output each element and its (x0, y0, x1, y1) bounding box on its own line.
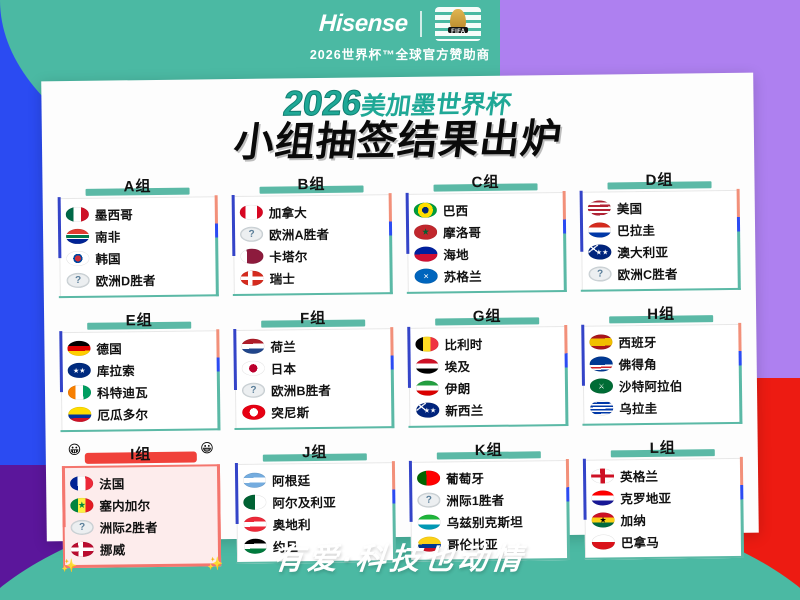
group-title: L组 (650, 439, 676, 456)
team-name: 洲际1胜者 (446, 490, 504, 510)
flag-icon-ecuador (68, 407, 91, 422)
flag-icon-ghana: ★ (592, 513, 615, 528)
group-team-list: 墨西哥南非韩国?欧洲D胜者 (59, 196, 218, 298)
team-row[interactable]: 美国 (588, 196, 732, 220)
team-name: 科特迪瓦 (97, 382, 148, 402)
team-row[interactable]: 南非 (66, 224, 210, 248)
team-name: 比利时 (444, 334, 482, 353)
team-row[interactable]: ★加纳 (591, 508, 735, 532)
team-row[interactable]: ?欧洲B胜者 (242, 378, 386, 402)
card-bottom-border (235, 426, 394, 430)
group-team-list: 美国巴拉圭★★澳大利亚?欧洲C胜者 (581, 190, 740, 292)
face-right-icon: 😀 (200, 440, 214, 456)
group-team-list: 加拿大?欧洲A胜者卡塔尔瑞士 (233, 194, 392, 296)
fifa-trophy-icon: FIFA (435, 7, 481, 41)
team-row[interactable]: ★★库拉索 (68, 358, 212, 382)
team-row[interactable]: 乌兹别克斯坦 (418, 510, 562, 534)
team-row[interactable]: 法国 (70, 471, 212, 495)
team-name: 加纳 (621, 510, 647, 529)
team-row[interactable]: 巴拉圭 (588, 218, 732, 242)
flag-icon-curacao: ★★ (68, 363, 91, 378)
group-card-F组[interactable]: F组荷兰日本?欧洲B胜者突尼斯 (234, 306, 393, 430)
team-row[interactable]: 佛得角 (590, 352, 734, 376)
brand-row: Hisense FIFA (0, 8, 800, 40)
team-name: 欧洲A胜者 (269, 224, 329, 244)
team-row[interactable]: 韩国 (66, 246, 210, 270)
flag-icon-algeria (243, 495, 266, 510)
footer-slogan: 有爱·科技也动情 (272, 534, 529, 578)
flag-icon-uzbekistan (418, 515, 441, 530)
team-name: 海地 (443, 244, 469, 263)
group-team-list: 西班牙佛得角⚔沙特阿拉伯乌拉圭 (582, 324, 741, 426)
team-name: 塞内加尔 (99, 495, 150, 515)
team-name: 欧洲D胜者 (96, 270, 156, 290)
team-row[interactable]: 厄瓜多尔 (68, 402, 212, 426)
team-name: 加拿大 (269, 202, 307, 221)
flag-icon-mexico (66, 207, 89, 222)
group-title-wrap: C组 (406, 170, 564, 194)
flag-icon-unknown: ? (417, 493, 440, 508)
team-row[interactable]: ★★新西兰 (416, 398, 560, 422)
team-row[interactable]: ?欧洲A胜者 (240, 222, 384, 246)
group-team-list: 比利时埃及伊朗★★新西兰 (408, 326, 567, 428)
team-name: 奥地利 (273, 514, 311, 533)
group-title-wrap: H组 (582, 302, 740, 326)
team-name: 克罗地亚 (620, 488, 671, 508)
hisense-logo: Hisense (318, 10, 408, 38)
flag-icon-south-africa (66, 229, 89, 244)
card-bottom-border (59, 294, 218, 298)
team-name: 瑞士 (270, 269, 296, 288)
flag-icon-japan (242, 361, 265, 376)
poster-content: 2026美加墨世界杯 小组抽签结果出炉 A组墨西哥南非韩国?欧洲D胜者B组加拿大… (41, 73, 759, 542)
group-title: A组 (123, 178, 151, 195)
team-name: 新西兰 (445, 400, 483, 419)
team-name: 墨西哥 (95, 205, 133, 224)
group-title: I组 (130, 446, 151, 463)
flag-icon-morocco: ★ (414, 225, 437, 240)
team-name: 欧洲B胜者 (271, 380, 331, 400)
title-year: 2026 (281, 83, 364, 123)
team-row[interactable]: 巴西 (414, 198, 558, 222)
flag-icon-haiti (414, 247, 437, 262)
team-name: 伊朗 (445, 378, 471, 397)
team-row[interactable]: ★摩洛哥 (414, 220, 558, 244)
team-row[interactable]: 海地 (414, 242, 558, 266)
flag-icon-paraguay (588, 223, 611, 238)
flag-icon-unknown: ? (589, 267, 612, 282)
team-name: 卡塔尔 (269, 246, 307, 265)
flag-icon-brazil (414, 203, 437, 218)
group-title-wrap: G组 (408, 304, 566, 328)
team-row[interactable]: 科特迪瓦 (68, 380, 212, 404)
group-team-list: 巴西★摩洛哥海地✕苏格兰 (407, 192, 566, 294)
flag-icon-iran (416, 381, 439, 396)
team-name: 苏格兰 (444, 266, 482, 285)
face-left-icon: 😀 (68, 442, 82, 458)
team-row[interactable]: 加拿大 (240, 200, 384, 224)
team-name: 葡萄牙 (446, 468, 484, 487)
team-name: 厄瓜多尔 (97, 404, 148, 424)
team-name: 沙特阿拉伯 (619, 376, 683, 396)
group-card-G组[interactable]: G组比利时埃及伊朗★★新西兰 (408, 304, 567, 428)
group-title-wrap: A组 (58, 174, 216, 198)
flag-icon-germany (67, 341, 90, 356)
team-row[interactable]: ?洲际1胜者 (417, 488, 561, 512)
team-name: 英格兰 (620, 466, 658, 485)
flag-icon-ivory-coast (68, 385, 91, 400)
team-row[interactable]: 突尼斯 (242, 400, 386, 424)
flag-icon-new-zealand: ★★ (416, 403, 439, 418)
flag-icon-croatia (591, 491, 614, 506)
team-row[interactable]: 荷兰 (241, 334, 385, 358)
group-title: E组 (126, 312, 153, 329)
flag-icon-argentina (243, 473, 266, 488)
group-card-A组[interactable]: A组墨西哥南非韩国?欧洲D胜者 (58, 174, 217, 298)
team-row[interactable]: 乌拉圭 (590, 396, 734, 420)
card-bottom-border (407, 290, 566, 294)
team-row[interactable]: ★塞内加尔 (70, 493, 212, 517)
team-row[interactable]: ✕苏格兰 (414, 264, 558, 288)
team-name: 德国 (96, 339, 122, 358)
team-name: 西班牙 (618, 332, 656, 351)
title-block: 2026美加墨世界杯 小组抽签结果出炉 (41, 73, 754, 166)
group-title-wrap: K组 (410, 438, 568, 462)
team-row[interactable]: 奥地利 (244, 512, 388, 536)
team-name: 乌拉圭 (619, 398, 657, 417)
header: Hisense FIFA 2026世界杯™全球官方赞助商 (0, 8, 800, 63)
flag-icon-france (70, 476, 93, 491)
flag-icon-canada (240, 205, 263, 220)
group-title: B组 (297, 176, 325, 193)
group-title: D组 (645, 171, 673, 188)
flag-icon-uruguay (590, 401, 613, 416)
group-title: F组 (300, 310, 326, 327)
team-row[interactable]: 葡萄牙 (417, 466, 561, 490)
team-name: 库拉索 (97, 360, 135, 379)
flag-icon-australia: ★★ (588, 245, 611, 260)
flag-icon-egypt (416, 359, 439, 374)
flag-icon-senegal: ★ (70, 498, 93, 513)
flag-icon-england (591, 469, 614, 484)
flag-icon-spain (589, 335, 612, 350)
team-row[interactable]: ★★澳大利亚 (588, 240, 732, 264)
team-row[interactable]: 卡塔尔 (240, 244, 384, 268)
flag-icon-unknown: ? (71, 520, 94, 535)
group-title-wrap: B组 (232, 172, 390, 196)
team-name: 美国 (617, 198, 643, 217)
group-title: K组 (475, 442, 503, 459)
card-bottom-border (409, 424, 568, 428)
flag-icon-saudi-arabia: ⚔ (590, 379, 613, 394)
team-row[interactable]: ?欧洲C胜者 (588, 262, 732, 286)
group-card-C组[interactable]: C组巴西★摩洛哥海地✕苏格兰 (406, 170, 565, 294)
flag-icon-unknown: ? (67, 273, 90, 288)
group-card-H组[interactable]: H组西班牙佛得角⚔沙特阿拉伯乌拉圭 (582, 302, 741, 426)
flag-icon-netherlands (241, 339, 264, 354)
team-row[interactable]: 伊朗 (416, 376, 560, 400)
group-card-E组[interactable]: E组德国★★库拉索科特迪瓦厄瓜多尔 (60, 308, 219, 432)
team-row[interactable]: 墨西哥 (66, 202, 210, 226)
flag-icon-unknown: ? (240, 227, 263, 242)
team-row[interactable]: ?欧洲D胜者 (67, 268, 211, 292)
flag-icon-cape-verde (590, 357, 613, 372)
flag-icon-tunisia (242, 405, 265, 420)
group-title: J组 (302, 444, 328, 461)
group-card-D组[interactable]: D组美国巴拉圭★★澳大利亚?欧洲C胜者 (580, 168, 739, 292)
card-bottom-border (581, 288, 740, 292)
team-row[interactable]: 克罗地亚 (591, 486, 735, 510)
team-name: 韩国 (95, 249, 121, 268)
group-title-wrap: J组 (236, 440, 394, 464)
team-row[interactable]: 英格兰 (591, 464, 735, 488)
team-name: 突尼斯 (271, 402, 309, 421)
team-name: 澳大利亚 (617, 242, 668, 262)
group-title: G组 (473, 308, 502, 325)
team-name: 阿根廷 (272, 470, 310, 489)
team-name: 阿尔及利亚 (272, 492, 336, 512)
team-name: 南非 (95, 227, 121, 246)
flag-icon-belgium (415, 337, 438, 352)
group-team-list: 荷兰日本?欧洲B胜者突尼斯 (234, 328, 393, 430)
group-title: C组 (471, 174, 499, 191)
title-year-suffix: 美加墨世界杯 (359, 91, 513, 121)
group-card-B组[interactable]: B组加拿大?欧洲A胜者卡塔尔瑞士 (232, 172, 391, 296)
card-bottom-border (61, 428, 220, 432)
vertical-divider-icon (420, 11, 422, 37)
team-name: 巴西 (443, 200, 469, 219)
team-row[interactable]: 瑞士 (241, 266, 385, 290)
flag-icon-scotland: ✕ (415, 269, 438, 284)
group-title-wrap: E组 (60, 308, 218, 332)
team-name: 摩洛哥 (443, 222, 481, 241)
team-name: 法国 (99, 474, 125, 493)
team-row[interactable]: 德国 (67, 336, 211, 360)
team-row[interactable]: 比利时 (415, 332, 559, 356)
team-name: 日本 (271, 359, 297, 378)
group-grid: A组墨西哥南非韩国?欧洲D胜者B组加拿大?欧洲A胜者卡塔尔瑞士C组巴西★摩洛哥海… (58, 168, 743, 568)
team-name: 巴拉圭 (617, 220, 655, 239)
team-row[interactable]: 阿尔及利亚 (243, 490, 387, 514)
flag-icon-portugal (417, 471, 440, 486)
card-bottom-border (233, 292, 392, 296)
team-name: 荷兰 (270, 337, 296, 356)
flag-icon-usa (588, 201, 611, 216)
page-title: 小组抽签结果出炉 (231, 118, 564, 164)
sponsor-text: 2026世界杯™全球官方赞助商 (0, 44, 800, 63)
group-title-wrap: I组😀😀 (62, 442, 220, 466)
team-row[interactable]: 埃及 (416, 354, 560, 378)
flag-icon-south-korea (66, 251, 89, 266)
group-title-wrap: D组 (580, 168, 738, 192)
team-name: 欧洲C胜者 (617, 264, 677, 284)
team-name: 乌兹别克斯坦 (447, 512, 523, 532)
flag-icon-unknown: ? (242, 383, 265, 398)
card-bottom-border (583, 422, 742, 426)
fifa-label: FIFA (451, 29, 465, 35)
team-row[interactable]: 西班牙 (589, 330, 733, 354)
team-row[interactable]: 阿根廷 (243, 468, 387, 492)
team-row[interactable]: ⚔沙特阿拉伯 (590, 374, 734, 398)
team-name: 佛得角 (619, 354, 657, 373)
group-team-list: 德国★★库拉索科特迪瓦厄瓜多尔 (60, 330, 219, 432)
flag-icon-qatar (240, 249, 263, 264)
group-title: H组 (647, 305, 675, 322)
flag-icon-austria (244, 517, 267, 532)
flag-icon-switzerland (241, 271, 264, 286)
team-name: 埃及 (445, 356, 471, 375)
group-title-wrap: F组 (234, 306, 392, 330)
group-title-wrap: L组 (584, 436, 742, 460)
footer: 有爱·科技也动情 (0, 534, 800, 578)
team-row[interactable]: 日本 (242, 356, 386, 380)
